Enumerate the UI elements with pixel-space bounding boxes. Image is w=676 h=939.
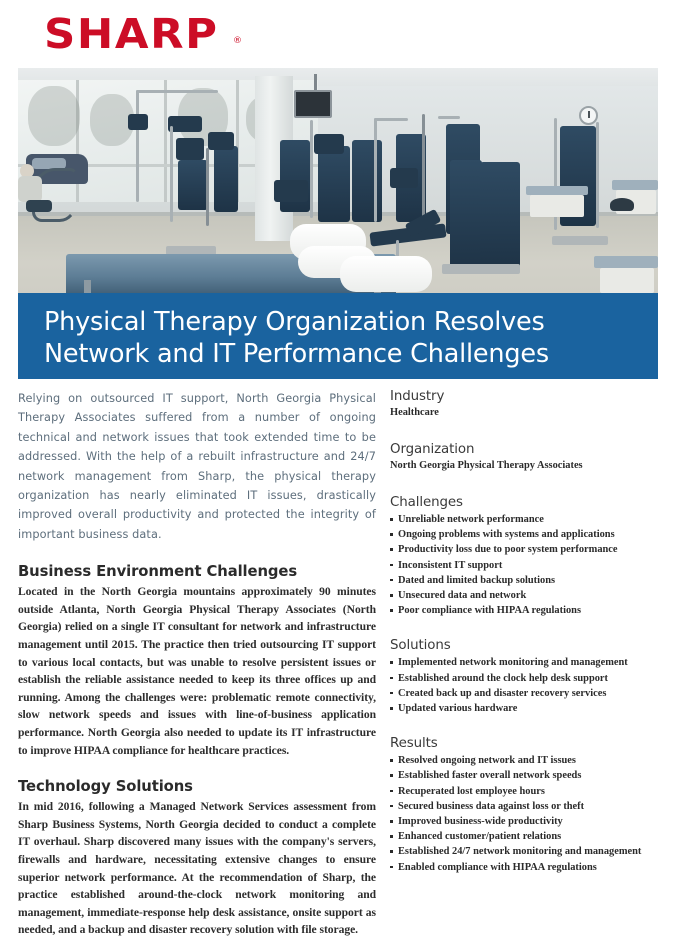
section-body-business-environment-challenges: Located in the North Georgia mountains a… — [18, 583, 376, 759]
list-item: Ongoing problems with systems and applic… — [390, 527, 660, 542]
title-banner: Physical Therapy Organization Resolves N… — [18, 293, 658, 379]
list-item: Secured business data against loss or th… — [390, 799, 660, 814]
sidebar-block-results: Results Resolved ongoing network and IT … — [390, 736, 660, 875]
list-item: Implemented network monitoring and manag… — [390, 655, 660, 670]
registered-trademark-icon: ® — [233, 36, 242, 46]
intro-paragraph: Relying on outsourced IT support, North … — [18, 389, 376, 544]
sidebar-heading-solutions: Solutions — [390, 638, 660, 653]
sharp-logo: SHARP — [44, 12, 219, 56]
gym-interior-illustration — [18, 68, 658, 293]
list-item: Enabled compliance with HIPAA regulation… — [390, 860, 660, 875]
section-heading-technology-solutions: Technology Solutions — [18, 778, 376, 795]
sidebar-block-organization: Organization North Georgia Physical Ther… — [390, 442, 660, 473]
list-item: Productivity loss due to poor system per… — [390, 542, 660, 557]
list-item: Unsecured data and network — [390, 588, 660, 603]
sidebar-block-industry: Industry Healthcare — [390, 389, 660, 420]
list-item: Enhanced customer/patient relations — [390, 829, 660, 844]
brand-header: SHARP ® — [0, 0, 676, 68]
section-heading-business-environment-challenges: Business Environment Challenges — [18, 563, 376, 580]
section-body-technology-solutions: In mid 2016, following a Managed Network… — [18, 798, 376, 939]
sidebar-heading-results: Results — [390, 736, 660, 751]
sidebar-value-industry: Healthcare — [390, 406, 660, 420]
main-content-column: Relying on outsourced IT support, North … — [18, 389, 376, 939]
wall-monitor — [294, 90, 332, 118]
sidebar-heading-challenges: Challenges — [390, 495, 660, 510]
sidebar-column: Industry Healthcare Organization North G… — [390, 389, 660, 897]
list-item: Dated and limited backup solutions — [390, 573, 660, 588]
hero-photo — [18, 68, 658, 293]
list-item: Unreliable network performance — [390, 512, 660, 527]
list-item: Created back up and disaster recovery se… — [390, 686, 660, 701]
results-list: Resolved ongoing network and IT issuesEs… — [390, 753, 660, 875]
list-item: Poor compliance with HIPAA regulations — [390, 603, 660, 618]
list-item: Inconsistent IT support — [390, 558, 660, 573]
sidebar-value-organization: North Georgia Physical Therapy Associate… — [390, 459, 660, 473]
list-item: Resolved ongoing network and IT issues — [390, 753, 660, 768]
challenges-list: Unreliable network performanceOngoing pr… — [390, 512, 660, 618]
list-item: Recuperated lost employee hours — [390, 784, 660, 799]
sidebar-block-challenges: Challenges Unreliable network performanc… — [390, 495, 660, 618]
list-item: Established around the clock help desk s… — [390, 671, 660, 686]
list-item: Established faster overall network speed… — [390, 768, 660, 783]
list-item: Established 24/7 network monitoring and … — [390, 844, 660, 859]
page-title-line-1: Physical Therapy Organization Resolves — [44, 306, 632, 338]
list-item: Improved business-wide productivity — [390, 814, 660, 829]
sidebar-block-solutions: Solutions Implemented network monitoring… — [390, 638, 660, 716]
sidebar-heading-organization: Organization — [390, 442, 660, 457]
page-title-line-2: Network and IT Performance Challenges — [44, 338, 632, 370]
list-item: Updated various hardware — [390, 701, 660, 716]
sidebar-heading-industry: Industry — [390, 389, 660, 404]
solutions-list: Implemented network monitoring and manag… — [390, 655, 660, 716]
case-study-page: SHARP ® — [0, 0, 676, 878]
